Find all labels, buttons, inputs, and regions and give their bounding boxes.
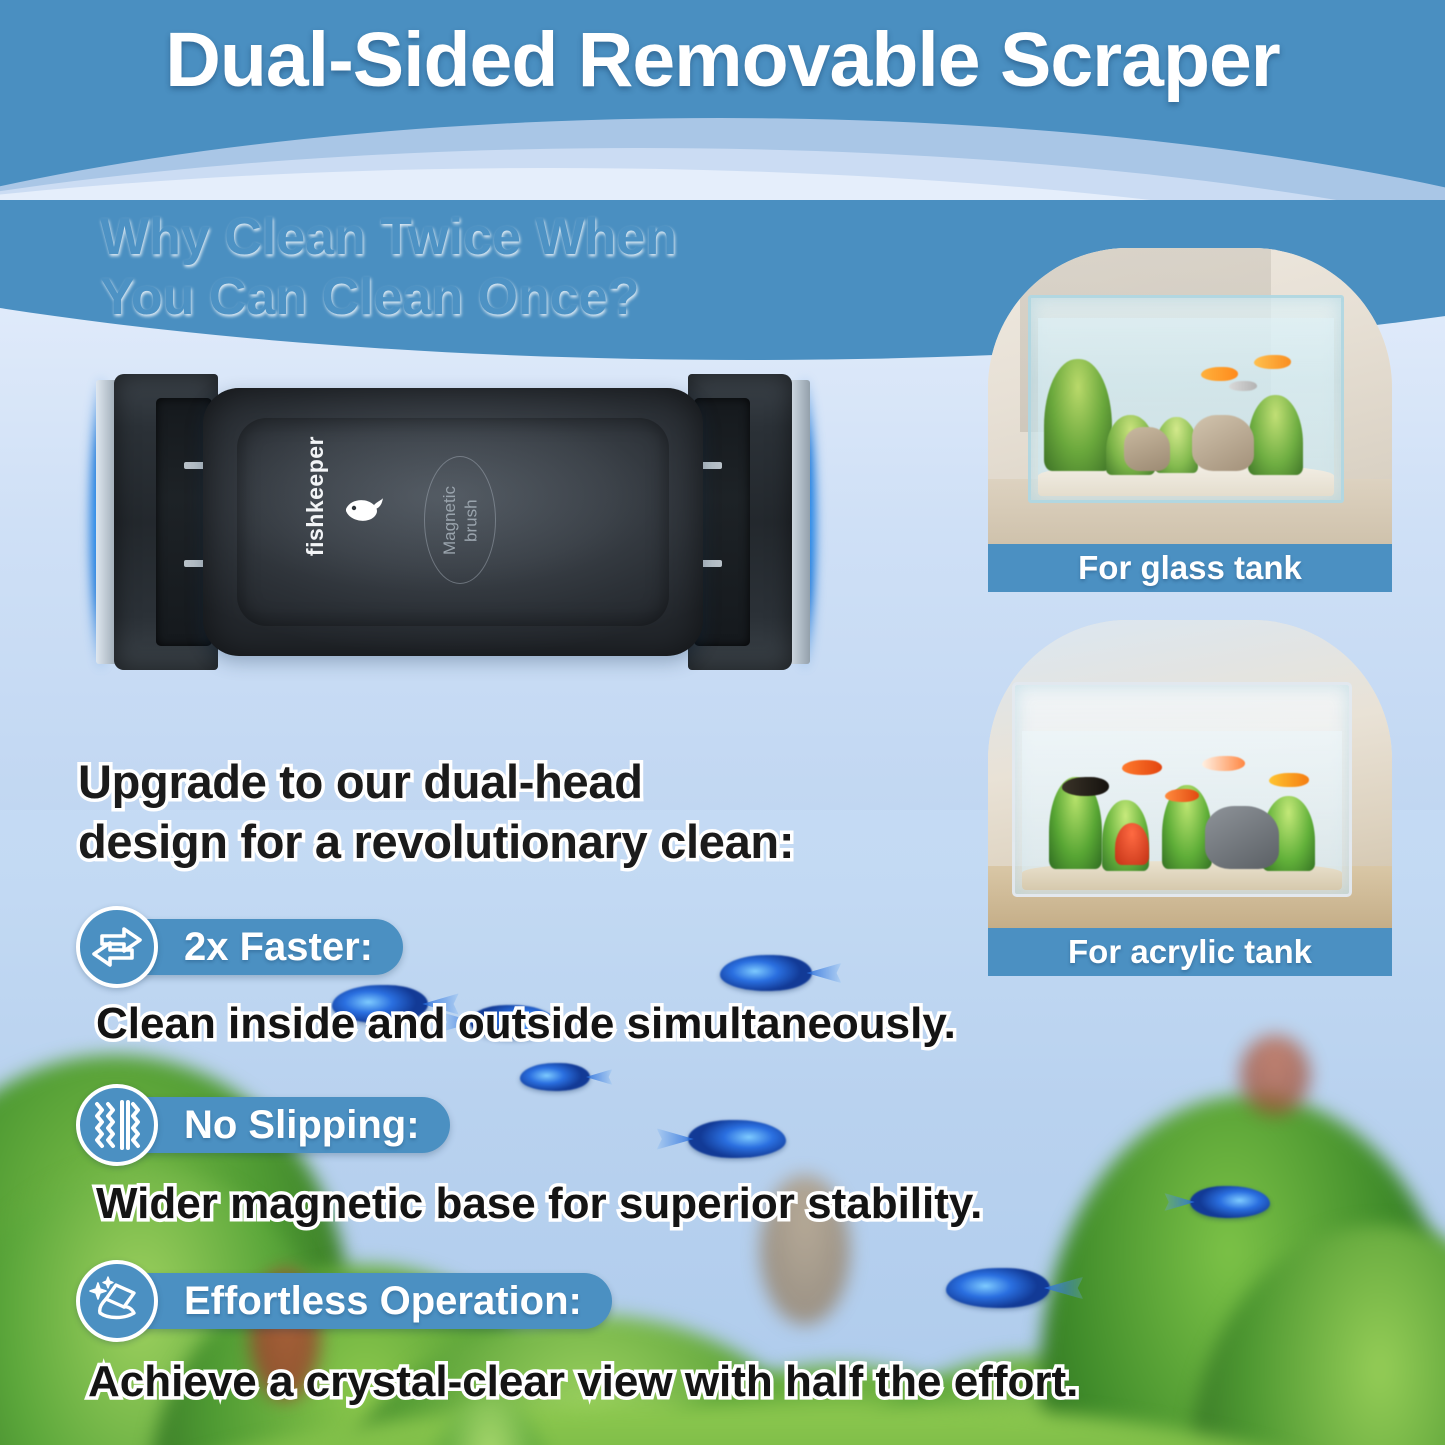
subheading: Why Clean Twice When You Can Clean Once? [100,208,900,328]
feature-description-effortless-operation: Achieve a crystal-clear view with half t… [88,1358,1078,1406]
subheading-line-1: Why Clean Twice When [100,208,900,268]
feature-title-no-slipping: No Slipping: [128,1097,450,1153]
fish-logo-icon [340,492,384,526]
fish-decoration [1190,1186,1270,1218]
fish-decoration [720,955,812,991]
feature-description-2x-faster: Clean inside and outside simultaneously. [96,1000,956,1048]
feature-description-no-slipping: Wider magnetic base for superior stabili… [96,1180,982,1228]
product-image: fishkeeper Magnetic brush [88,372,818,672]
feature-title-2x-faster: 2x Faster: [128,919,403,975]
acrylic-tank-label: For acrylic tank [988,928,1392,976]
double-arrow-icon [76,906,158,988]
upgrade-heading: Upgrade to our dual-head design for a re… [78,752,1038,872]
sparkle-clean-icon [76,1260,158,1342]
glass-tank-card[interactable]: For glass tank [988,248,1392,592]
magnetic-label-line-1: Magnetic [440,486,459,555]
feature-title-effortless-operation: Effortless Operation: [128,1273,612,1329]
glass-aquarium-photo [988,248,1392,544]
acrylic-tank-card[interactable]: For acrylic tank [988,620,1392,976]
fish-decoration [520,1063,590,1091]
acrylic-aquarium-photo [988,620,1392,928]
brand-logo-text: fishkeeper [302,436,329,556]
upgrade-heading-line-1: Upgrade to our dual-head [78,752,1038,812]
header-band: Dual-Sided Removable Scraper [0,0,1445,200]
magnetic-label-line-2: brush [461,499,480,542]
upgrade-heading-line-2: design for a revolutionary clean: [78,812,1038,872]
page-title: Dual-Sided Removable Scraper [0,16,1445,105]
fish-decoration [946,1268,1050,1308]
glass-tank-label: For glass tank [988,544,1392,592]
subheading-line-2: You Can Clean Once? [100,268,900,328]
scraper-head-right [688,374,792,670]
grip-texture-icon [76,1084,158,1166]
fish-decoration [688,1120,786,1158]
infographic-canvas: Dual-Sided Removable Scraper Why Clean T… [0,0,1445,1445]
magnetic-brush-badge: Magnetic brush [424,456,496,584]
